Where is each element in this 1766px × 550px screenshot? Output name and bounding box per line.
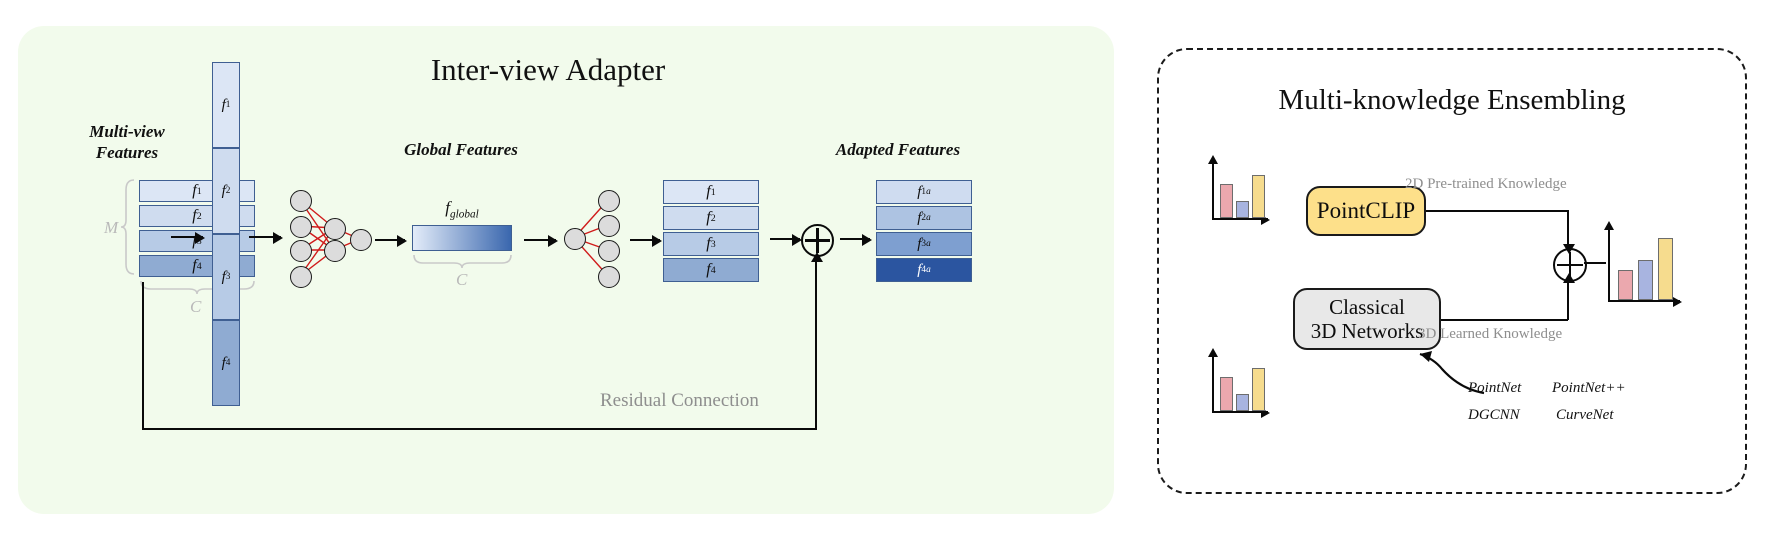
mlp-node	[598, 240, 620, 262]
residual-connection-label: Residual Connection	[600, 390, 759, 412]
concat-block: f4	[212, 320, 240, 406]
mlp-node	[324, 240, 346, 262]
global-features-label: Global Features	[381, 140, 541, 161]
line-3d-knowledge	[1441, 319, 1568, 321]
mlp-node	[290, 190, 312, 212]
output-chart-ensemble	[1606, 228, 1684, 302]
adapted-feature-block: f2a	[876, 206, 972, 230]
bracket-m-shape	[120, 178, 136, 276]
mlp-node	[564, 228, 586, 250]
chart-bar	[1618, 270, 1633, 300]
multi-view-features-label: Multi-viewFeatures	[52, 122, 202, 163]
adapted-features-label: Adapted Features	[808, 140, 988, 161]
mid-feature-block: f1	[663, 180, 759, 204]
mid-feature-block: f2	[663, 206, 759, 230]
chart-bar	[1236, 394, 1249, 411]
classical-3d-networks-label-line1: Classical	[1329, 295, 1405, 319]
global-feature-bar	[412, 225, 512, 251]
chart-bar	[1638, 260, 1653, 300]
input-chart-2d	[1210, 162, 1272, 220]
bracket-m-label: M	[104, 218, 118, 238]
arrow-concat-to-mlp	[249, 236, 281, 238]
mlp-node	[598, 266, 620, 288]
concat-block: f1	[212, 62, 240, 148]
network-name-dgcnn: DGCNN	[1468, 407, 1520, 424]
residual-line-vertical	[142, 282, 144, 430]
figure-root: Inter-view Adapter Multi-viewFeatures M …	[0, 0, 1766, 550]
arrow-mlp-to-global	[375, 239, 405, 241]
line-2d-knowledge	[1426, 210, 1568, 212]
bracket-c-global-shape	[412, 254, 514, 270]
chart-bar	[1658, 238, 1673, 300]
f-global-label: fglobal	[412, 198, 512, 220]
adapted-feature-block: f3a	[876, 232, 972, 256]
arrow-input-to-concat	[171, 236, 203, 238]
chart-bar	[1236, 201, 1249, 218]
mlp-node	[290, 266, 312, 288]
mlp-node	[290, 216, 312, 238]
mid-feature-block: f3	[663, 232, 759, 256]
network-name-curvenet: CurveNet	[1556, 407, 1614, 424]
pointclip-label: PointCLIP	[1317, 198, 1415, 225]
mlp-node	[290, 240, 312, 262]
bracket-c-global-label: C	[456, 270, 467, 290]
network-name-pointnetpp: PointNet++	[1552, 380, 1626, 397]
adapted-feature-block: f1a	[876, 180, 972, 204]
chart-bar	[1252, 368, 1265, 411]
bracket-c-input-label: C	[190, 297, 201, 317]
residual-line-horizontal	[142, 428, 816, 430]
arrow-mid-to-oplus	[770, 238, 800, 240]
arrow-3d-to-oplus	[1567, 283, 1569, 320]
network-name-pointnet: PointNet	[1468, 380, 1521, 397]
mlp-node	[350, 229, 372, 251]
arrow-decoder-to-mid	[630, 239, 660, 241]
mlp-node	[598, 190, 620, 212]
label-3d-learned-knowledge: 3D Learned Knowledge	[1418, 326, 1562, 343]
chart-bar	[1220, 184, 1233, 218]
concat-block: f3	[212, 234, 240, 320]
multi-knowledge-ensembling-title: Multi-knowledge Ensembling	[1157, 84, 1747, 117]
label-2d-pretrained-knowledge: 2D Pre-trained Knowledge	[1405, 176, 1567, 193]
mlp-node	[324, 218, 346, 240]
adapted-feature-block: f4a	[876, 258, 972, 282]
mid-feature-block: f4	[663, 258, 759, 282]
classical-3d-networks-label-line2: 3D Networks	[1311, 319, 1424, 343]
residual-arrow-up	[815, 262, 817, 430]
chart-bar	[1252, 175, 1265, 218]
arrow-2d-to-oplus	[1567, 210, 1569, 244]
arrow-oplus-to-adapted	[840, 238, 870, 240]
pointclip-box[interactable]: PointCLIP	[1306, 186, 1426, 236]
inter-view-adapter-title: Inter-view Adapter	[0, 52, 1096, 88]
arrow-global-to-decoder	[524, 239, 556, 241]
concat-block: f2	[212, 148, 240, 234]
input-chart-3d	[1210, 355, 1272, 413]
mlp-node	[598, 215, 620, 237]
chart-bar	[1220, 377, 1233, 411]
line-oplus-to-output	[1584, 262, 1606, 264]
